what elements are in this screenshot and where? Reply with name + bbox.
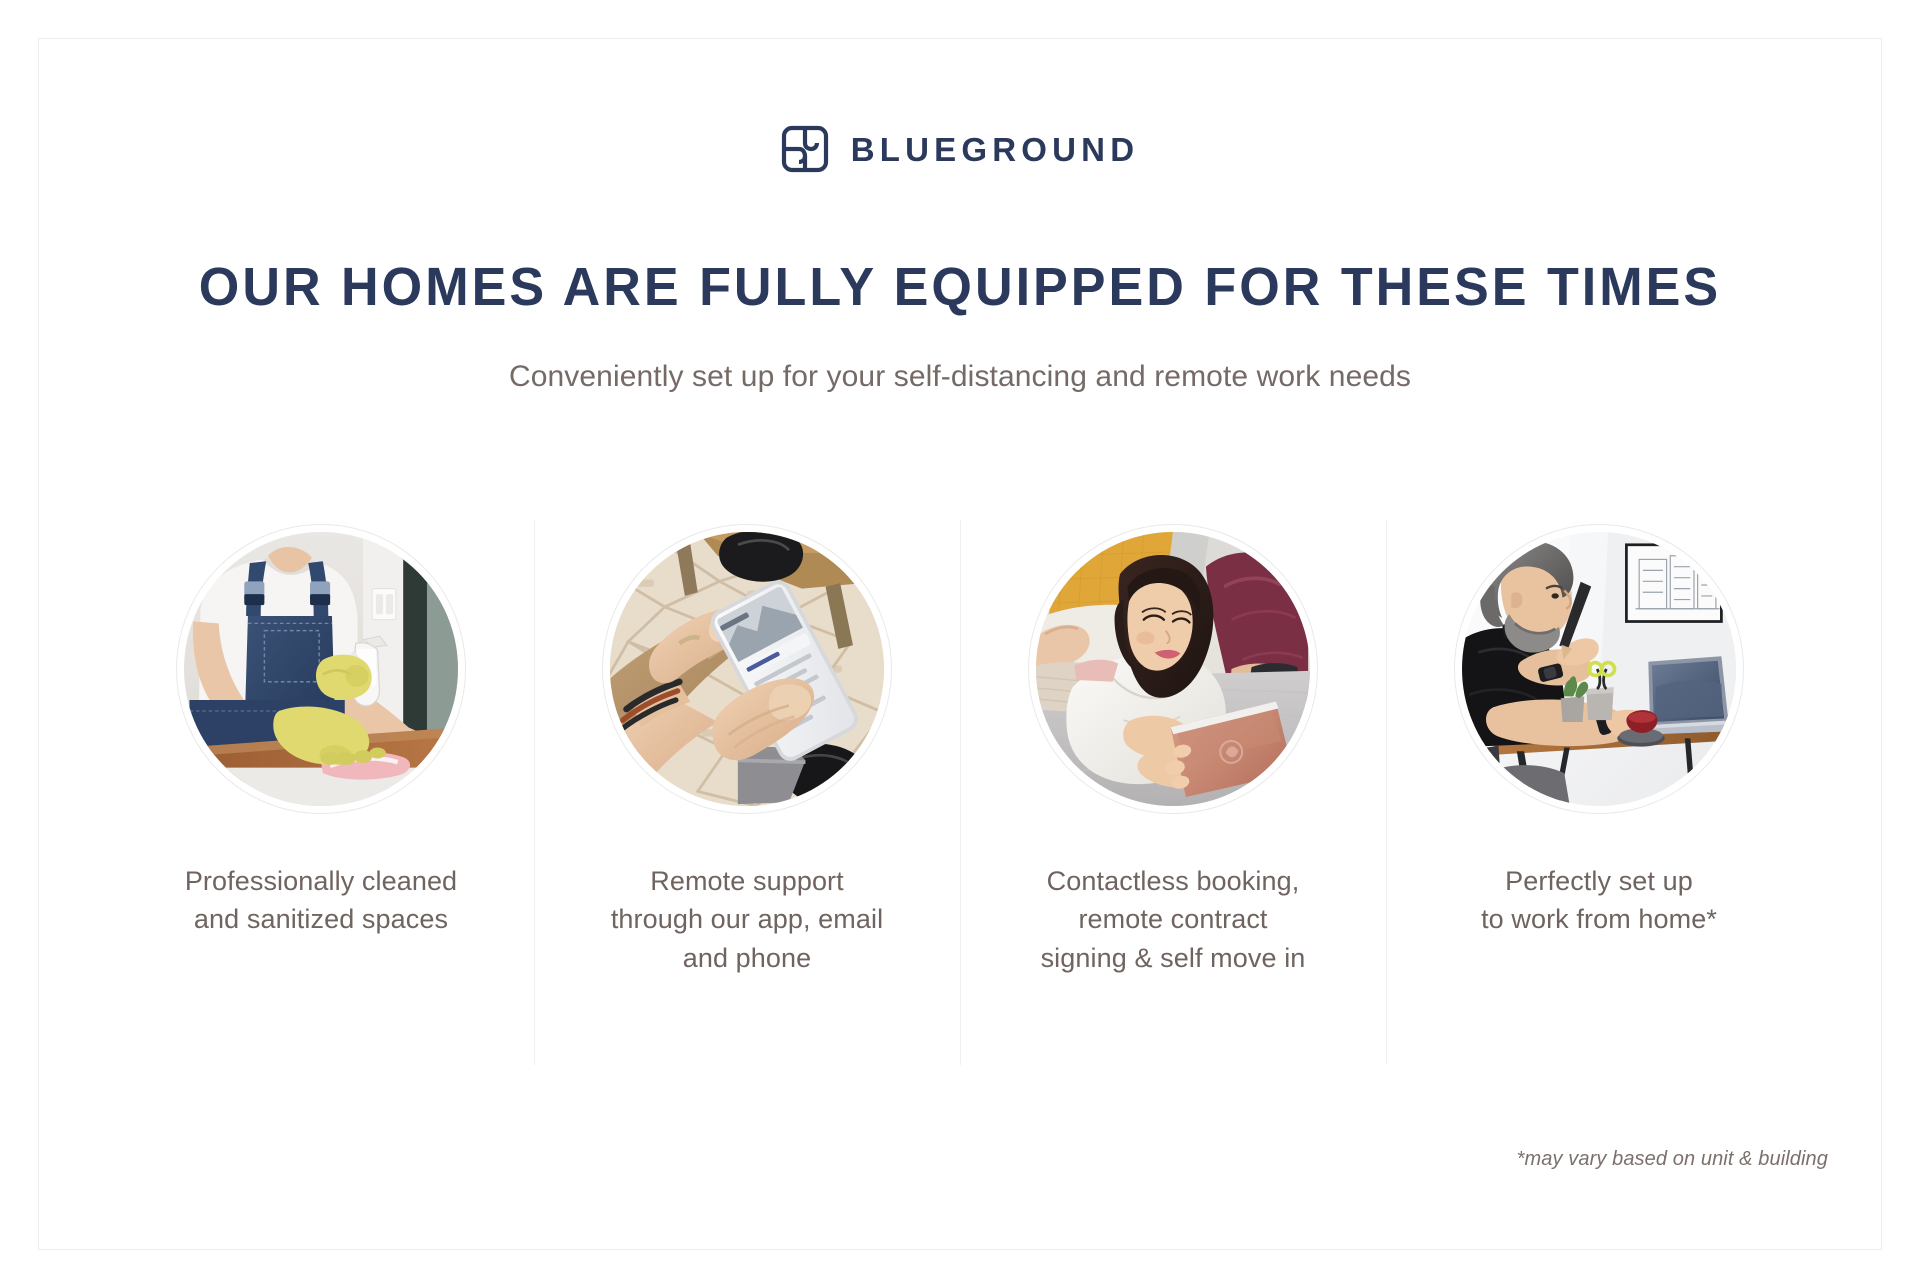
woman-on-bed-with-tablet-photo — [1036, 532, 1310, 806]
caption-line: Perfectly set up — [1505, 866, 1693, 896]
footnote-disclaimer: *may vary based on unit & building — [1517, 1148, 1828, 1171]
caption-line: Remote support — [650, 866, 844, 896]
photo-ring — [1454, 524, 1744, 814]
page-title: OUR HOMES ARE FULLY EQUIPPED FOR THESE T… — [34, 258, 1887, 316]
photo-ring — [602, 524, 892, 814]
feature-caption: Remote support through our app, email an… — [611, 862, 883, 977]
feature-caption: Professionally cleaned and sanitized spa… — [185, 862, 457, 939]
feature-caption: Perfectly set up to work from home* — [1481, 862, 1717, 939]
caption-line: Professionally cleaned — [185, 866, 457, 896]
blueground-square-mark-icon — [781, 125, 829, 173]
cleaner-wiping-counter-photo — [184, 532, 458, 806]
caption-line: remote contract — [1078, 904, 1267, 934]
caption-line: signing & self move in — [1041, 943, 1306, 973]
brand-lockup: BLUEGROUND — [0, 125, 1920, 173]
man-working-at-desk-photo — [1462, 532, 1736, 806]
caption-line: through our app, email — [611, 904, 883, 934]
feature-column: Contactless booking, remote contract sig… — [960, 520, 1386, 1065]
feature-columns: Professionally cleaned and sanitized spa… — [108, 520, 1812, 1065]
brand-wordmark: BLUEGROUND — [851, 133, 1140, 166]
page-subtitle: Conveniently set up for your self-distan… — [0, 357, 1920, 396]
feature-column: Professionally cleaned and sanitized spa… — [108, 520, 534, 1065]
photo-ring — [1028, 524, 1318, 814]
hands-using-smartphone-photo — [610, 532, 884, 806]
photo-ring — [176, 524, 466, 814]
feature-column: Remote support through our app, email an… — [534, 520, 960, 1065]
caption-line: and sanitized spaces — [194, 904, 448, 934]
feature-column: Perfectly set up to work from home* — [1386, 520, 1812, 1065]
infographic-page: BLUEGROUND OUR HOMES ARE FULLY EQUIPPED … — [0, 0, 1920, 1280]
caption-line: and phone — [683, 943, 812, 973]
caption-line: to work from home* — [1481, 904, 1717, 934]
feature-caption: Contactless booking, remote contract sig… — [1041, 862, 1306, 977]
caption-line: Contactless booking, — [1047, 866, 1300, 896]
